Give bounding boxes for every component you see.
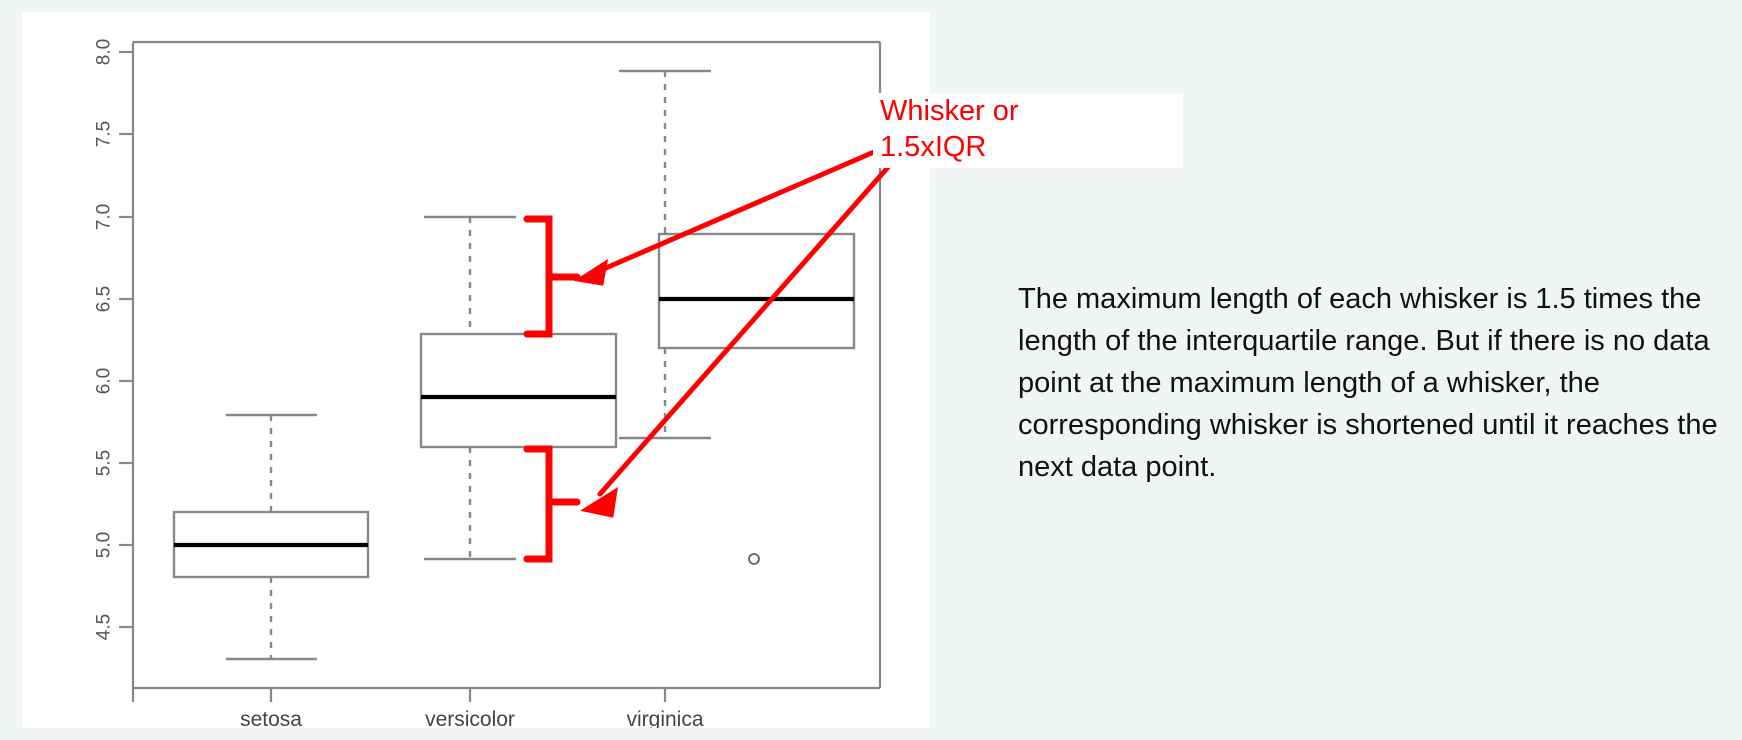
y-tick-7.0: 7.0 — [94, 204, 134, 230]
box-iqr — [659, 234, 854, 348]
y-tick-label: 6.5 — [94, 286, 115, 312]
slide-canvas: 8.0 7.5 7.0 6.5 6.0 — [0, 0, 1742, 740]
upper-annotation-arrow-head — [578, 262, 606, 284]
boxplot-panel: 8.0 7.5 7.0 6.5 6.0 — [22, 12, 930, 728]
y-tick-label: 7.5 — [94, 121, 115, 147]
boxplot-virginica — [619, 71, 854, 564]
y-tick-6.0: 6.0 — [94, 368, 134, 394]
x-tick-label-virginica: virginica — [626, 708, 703, 728]
y-tick-label: 5.0 — [94, 532, 115, 558]
lower-whisker-bracket-icon — [527, 449, 549, 559]
y-tick-label: 7.0 — [94, 204, 115, 230]
whisker-callout-label: Whisker or 1.5xIQR — [873, 93, 1183, 168]
whisker-description-text: The maximum length of each whisker is 1.… — [1018, 278, 1718, 488]
y-tick-label: 4.5 — [94, 614, 115, 640]
x-tick-label-setosa: setosa — [240, 708, 302, 728]
box-iqr — [421, 334, 616, 447]
boxplot-setosa — [174, 415, 368, 659]
callout-line-1: Whisker or — [873, 93, 1183, 129]
y-tick-label: 5.5 — [94, 450, 115, 476]
boxplot-figure: 8.0 7.5 7.0 6.5 6.0 — [22, 12, 930, 728]
y-tick-label: 8.0 — [94, 39, 115, 65]
y-tick-5.5: 5.5 — [94, 450, 134, 476]
lower-annotation-arrow-line — [600, 149, 904, 494]
y-axis: 8.0 7.5 7.0 6.5 6.0 — [94, 39, 134, 702]
y-tick-6.5: 6.5 — [94, 286, 134, 312]
y-tick-5.0: 5.0 — [94, 532, 134, 558]
x-axis: setosa versicolor virginica — [240, 688, 704, 728]
y-tick-4.5: 4.5 — [94, 614, 134, 640]
outlier-point — [749, 554, 759, 564]
y-tick-7.5: 7.5 — [94, 121, 134, 147]
y-tick-8.0: 8.0 — [94, 39, 134, 65]
x-tick-label-versicolor: versicolor — [425, 708, 515, 728]
y-tick-label: 6.0 — [94, 368, 115, 394]
callout-line-2: 1.5xIQR — [873, 129, 1183, 165]
